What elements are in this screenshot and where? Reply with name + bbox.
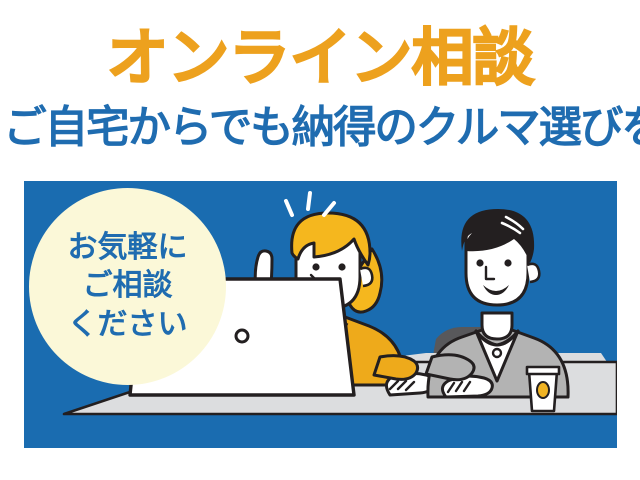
page-title: オンライン相談 bbox=[0, 26, 640, 91]
badge-line-1: お気軽に bbox=[68, 229, 188, 267]
sparkle-icon bbox=[286, 193, 334, 215]
online-consultation-banner: オンライン相談 ご自宅からでも納得のクルマ選びを .ol{fill:none;s… bbox=[0, 0, 640, 480]
illustration-panel: .ol{fill:none;stroke:#231f20;stroke-widt… bbox=[24, 181, 617, 448]
badge-line-2: ご相談 bbox=[83, 267, 173, 305]
coffee-cup-shape bbox=[527, 367, 559, 411]
status-badge: お気軽に ご相談 ください bbox=[29, 188, 226, 385]
badge-line-3: ください bbox=[68, 306, 188, 344]
page-subtitle: ご自宅からでも納得のクルマ選びを bbox=[3, 104, 637, 152]
